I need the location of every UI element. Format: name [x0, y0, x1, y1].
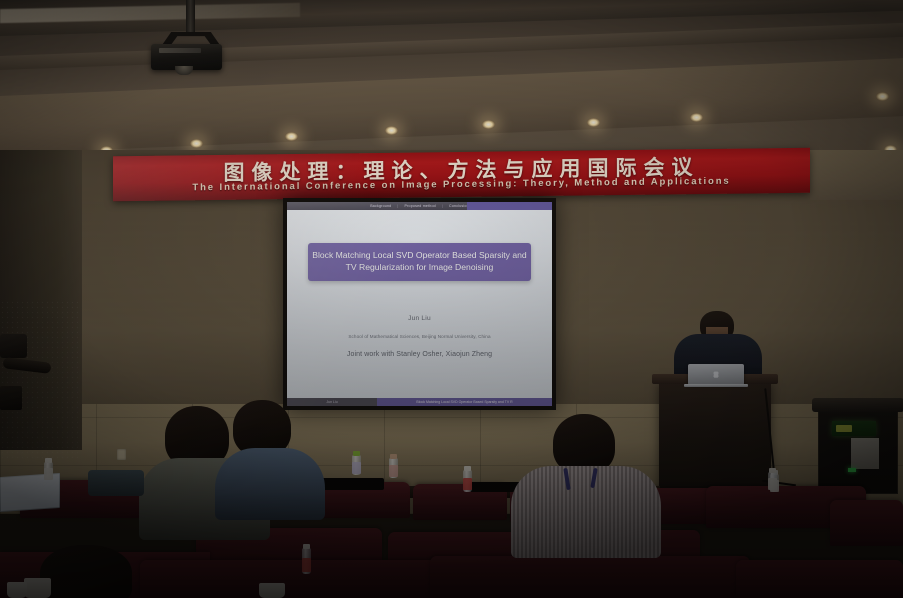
person-head	[553, 414, 615, 474]
water-bottle	[352, 455, 361, 475]
bottle-label	[768, 478, 777, 490]
projected-slide: Background | Proposed method | Conclusio…	[287, 202, 552, 406]
seat	[736, 560, 903, 598]
chair-back	[88, 470, 144, 496]
seat	[830, 500, 903, 546]
slide-footer: Jun Liu Block Matching Local SVD Operato…	[287, 398, 552, 406]
person-head	[40, 545, 132, 598]
right-wall-upper	[810, 150, 903, 200]
wall-outlet-icon	[117, 449, 126, 460]
rack-paper-sheet	[851, 438, 879, 469]
paper-cup	[24, 578, 51, 598]
bottle-cap	[769, 468, 776, 473]
lecture-hall-photo: 图像处理：理论、方法与应用国际会议 The International Conf…	[0, 0, 903, 598]
slide-affiliation: School of Mathematical Sciences, Beijing…	[287, 334, 552, 339]
bottle-cap	[464, 466, 471, 471]
conference-banner: 图像处理：理论、方法与应用国际会议 The International Conf…	[113, 148, 810, 202]
bottle-label	[352, 462, 361, 474]
slide-footer-author: Jun Liu	[287, 400, 377, 404]
bottle-label	[389, 465, 398, 477]
slide-nav-item-background: Background	[370, 204, 391, 208]
bottle-cap	[45, 458, 52, 463]
apple-logo-icon	[713, 371, 719, 378]
water-bottle	[389, 458, 398, 478]
slide-title: Block Matching Local SVD Operator Based …	[312, 250, 527, 274]
acoustic-perforated-panel	[0, 300, 78, 460]
downlight-icon	[690, 113, 703, 122]
downlight-icon	[482, 120, 495, 129]
downlight-icon	[587, 118, 600, 127]
paper-cup	[259, 583, 285, 598]
water-bottle	[44, 462, 53, 480]
water-bottle	[302, 548, 311, 574]
slide-footer-title: Block Matching Local SVD Operator Based …	[377, 398, 552, 406]
downlight-icon	[190, 139, 203, 148]
person-torso	[511, 466, 661, 558]
slide-navigation-bar: Background | Proposed method | Conclusio…	[287, 202, 552, 210]
slide-joint-work: Joint work with Stanley Osher, Xiaojun Z…	[287, 351, 552, 358]
downlight-icon	[385, 126, 398, 135]
slide-nav-item-conclusion: Conclusion	[449, 204, 469, 208]
slide-nav-item-proposed-method: Proposed method	[405, 204, 436, 208]
slide-nav-separator: |	[442, 204, 443, 208]
slide-title-box: Block Matching Local SVD Operator Based …	[308, 243, 531, 281]
water-bottle	[768, 472, 777, 490]
bottle-label	[302, 558, 311, 572]
paper-cup	[7, 582, 27, 598]
seat	[430, 556, 750, 598]
person-torso	[215, 448, 325, 520]
bottle-label	[463, 478, 472, 490]
bottle-cap	[390, 454, 397, 459]
downlight-icon	[876, 92, 889, 101]
laptop-base	[684, 384, 748, 387]
slide-author: Jun Liu	[287, 315, 552, 322]
rack-display-panel	[832, 421, 876, 436]
bottle-cap	[353, 451, 360, 456]
ceiling	[0, 0, 903, 152]
slide-nav-accent	[467, 202, 552, 210]
slide-nav-separator: |	[397, 204, 398, 208]
rack-monitor	[812, 398, 903, 412]
downlight-icon	[285, 132, 298, 141]
bottle-cap	[303, 544, 310, 549]
rack-status-led-icon	[848, 468, 856, 472]
camera-tripod-head	[0, 386, 22, 410]
projection-screen-frame: Background | Proposed method | Conclusio…	[283, 198, 556, 410]
video-camera-icon	[0, 334, 27, 358]
screen-glare	[287, 202, 552, 406]
bottle-label	[44, 468, 53, 480]
projector-mount-rod	[186, 0, 195, 34]
water-bottle	[463, 470, 472, 492]
ceiling-soffit	[0, 58, 903, 154]
